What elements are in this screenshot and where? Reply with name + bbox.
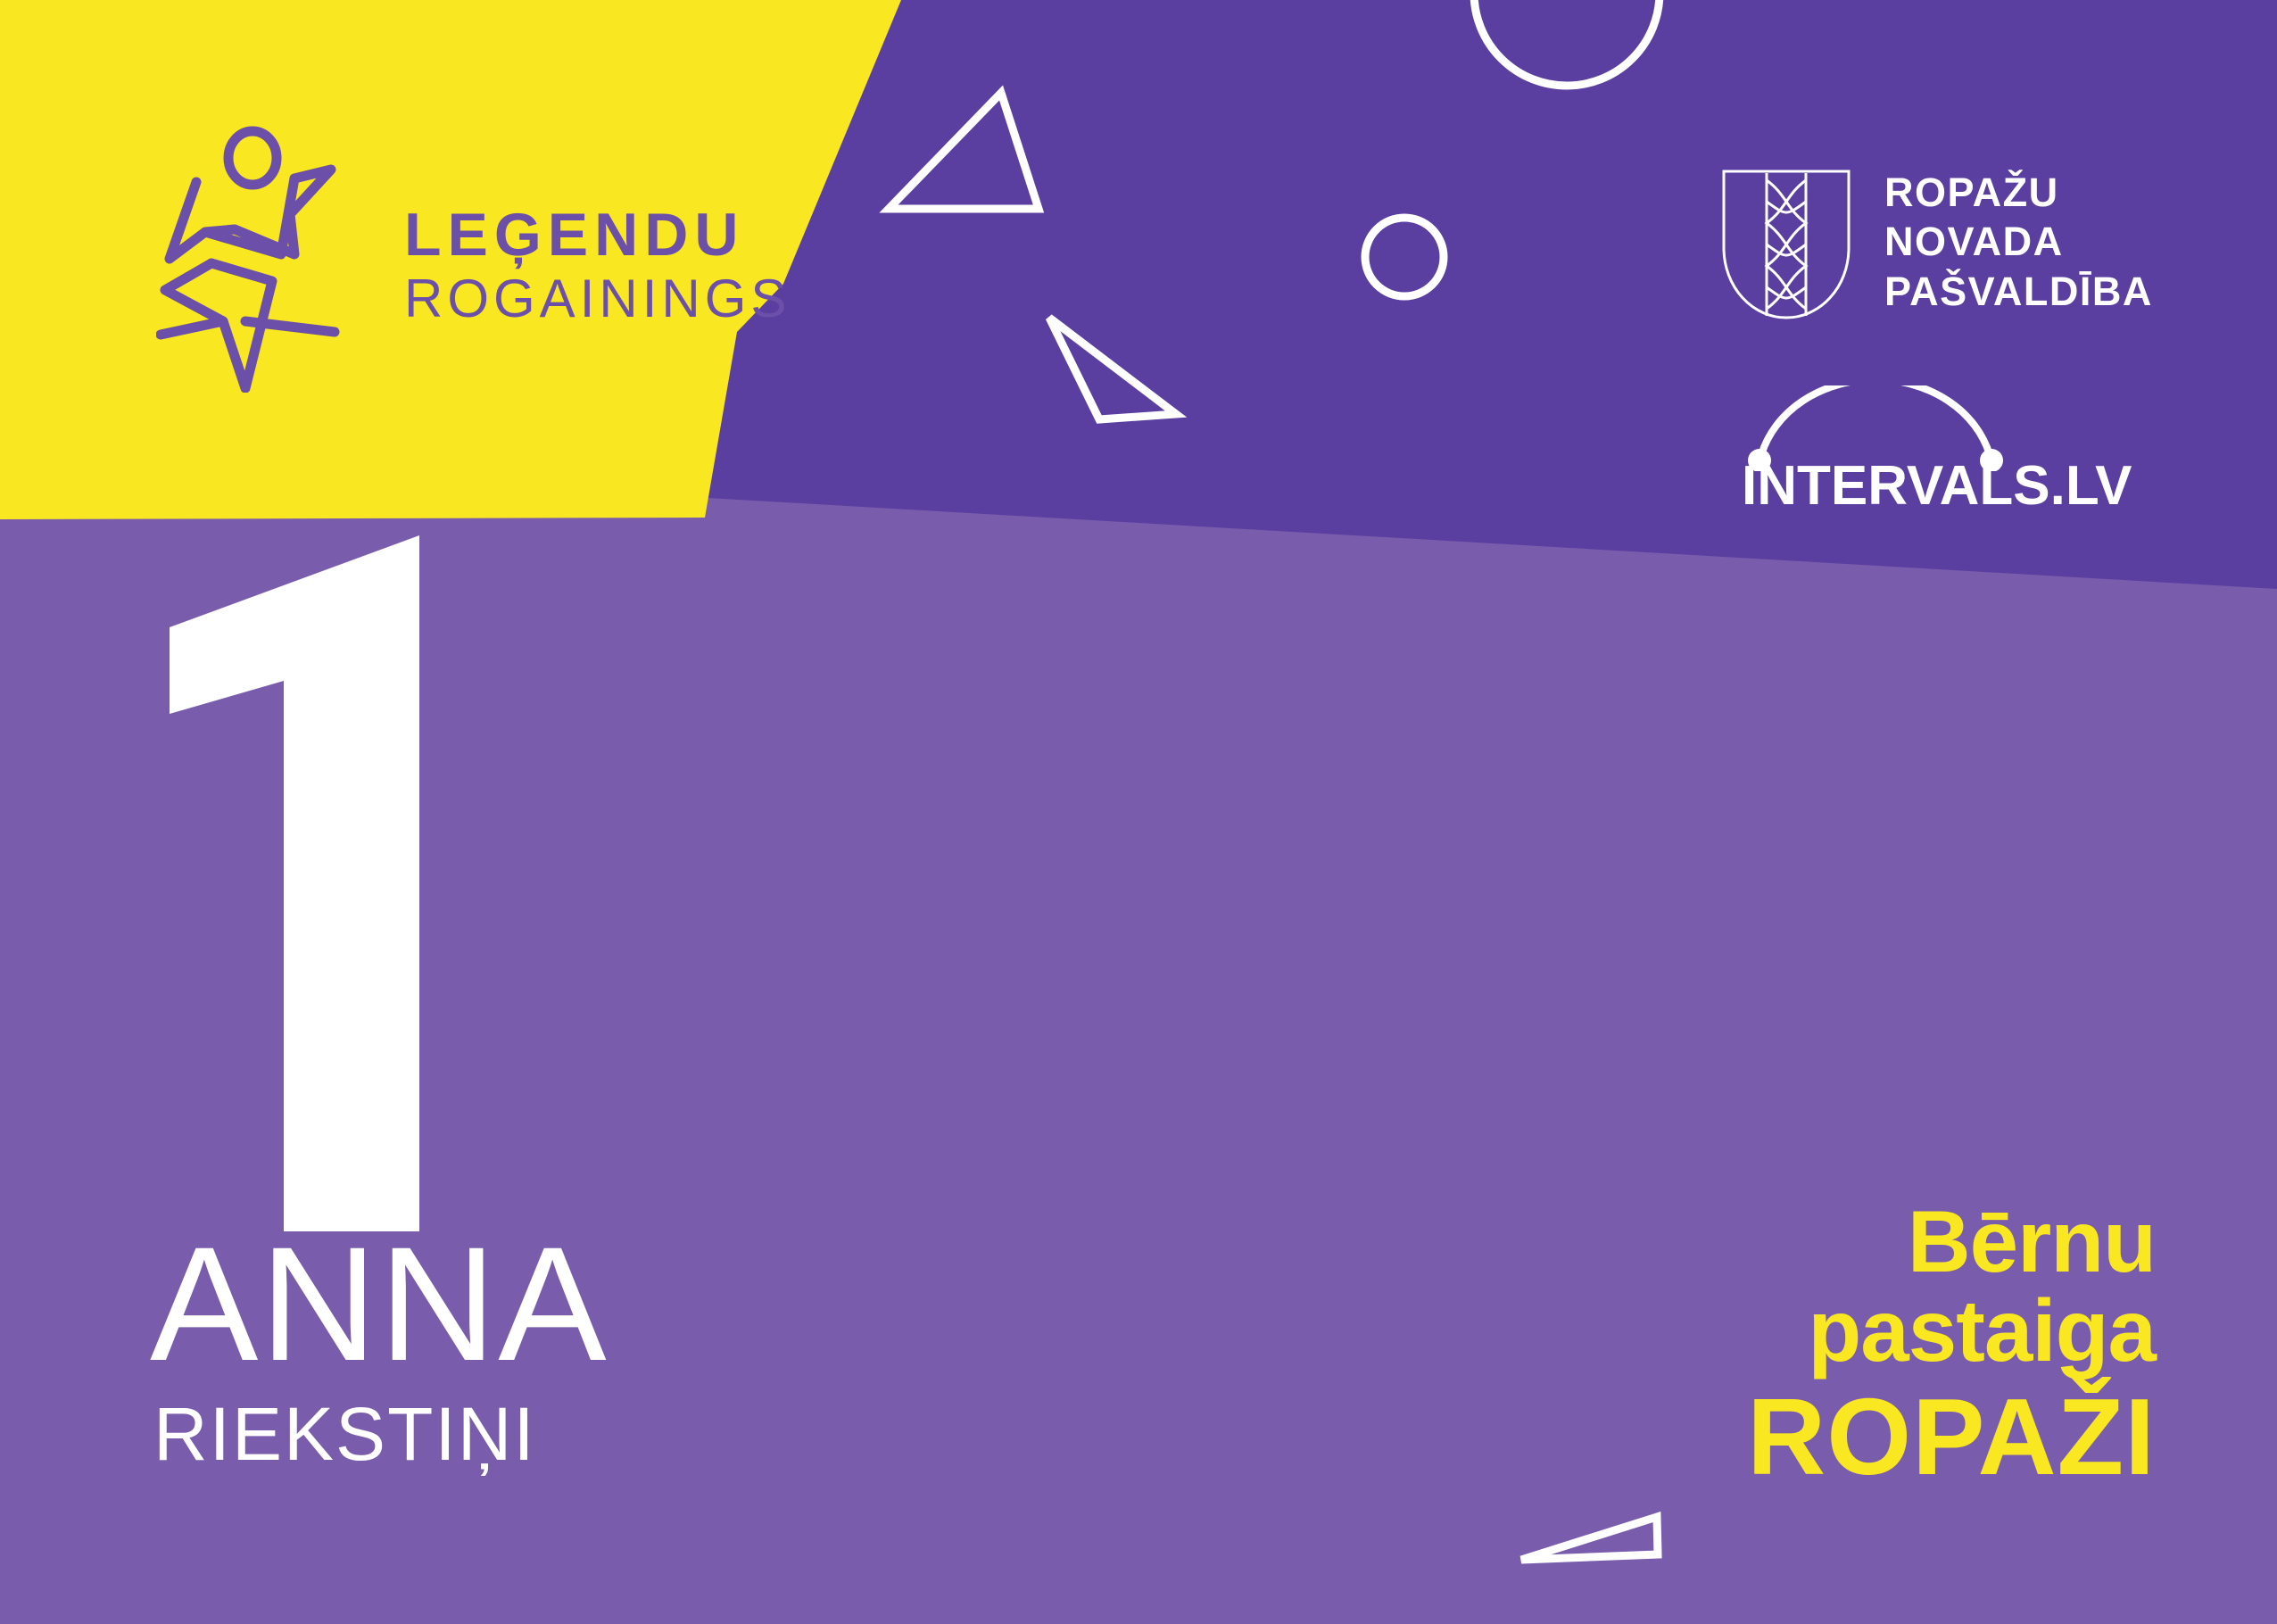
brand-line-2: ROGAININGS <box>404 272 791 326</box>
poster-canvas: LEĢENDU ROGAININGS ROPAŽU NOVADA PAŠVALD… <box>0 0 2277 1624</box>
event-title-block: Bērnu pastaiga ROPAŽI <box>1747 1197 2156 1492</box>
brand-logo: LEĢENDU ROGAININGS <box>156 125 791 393</box>
partner-name-ropazu: ROPAŽU NOVADA PAŠVALDĪBA <box>1884 168 2153 316</box>
checkpoint-number <box>152 535 526 1231</box>
brand-line-1: LEĢENDU <box>404 204 791 265</box>
partner-logo-intervals: INTERVALS.LV <box>1742 385 2161 537</box>
partner-name-line-3: PAŠVALDĪBA <box>1884 267 2153 316</box>
partner-name-line-1: ROPAŽU <box>1884 168 2153 217</box>
partner-wordmark-intervals: INTERVALS.LV <box>1742 459 2132 514</box>
running-person-figure-icon <box>156 125 370 393</box>
checkpoint-subname: RIEKSTIŅI <box>153 1396 536 1471</box>
checkpoint-name: ANNA <box>150 1222 609 1385</box>
partner-logo-ropazu: ROPAŽU NOVADA PAŠVALDĪBA <box>1720 168 2153 321</box>
event-title-line-2: pastaiga <box>1747 1287 2156 1376</box>
brand-wordmark: LEĢENDU ROGAININGS <box>404 192 791 326</box>
partner-name-line-2: NOVADA <box>1884 217 2153 266</box>
braided-shield-crest-icon <box>1720 168 1852 321</box>
event-location: ROPAŽI <box>1747 1381 2156 1492</box>
event-title-line-1: Bērnu <box>1747 1197 2156 1287</box>
